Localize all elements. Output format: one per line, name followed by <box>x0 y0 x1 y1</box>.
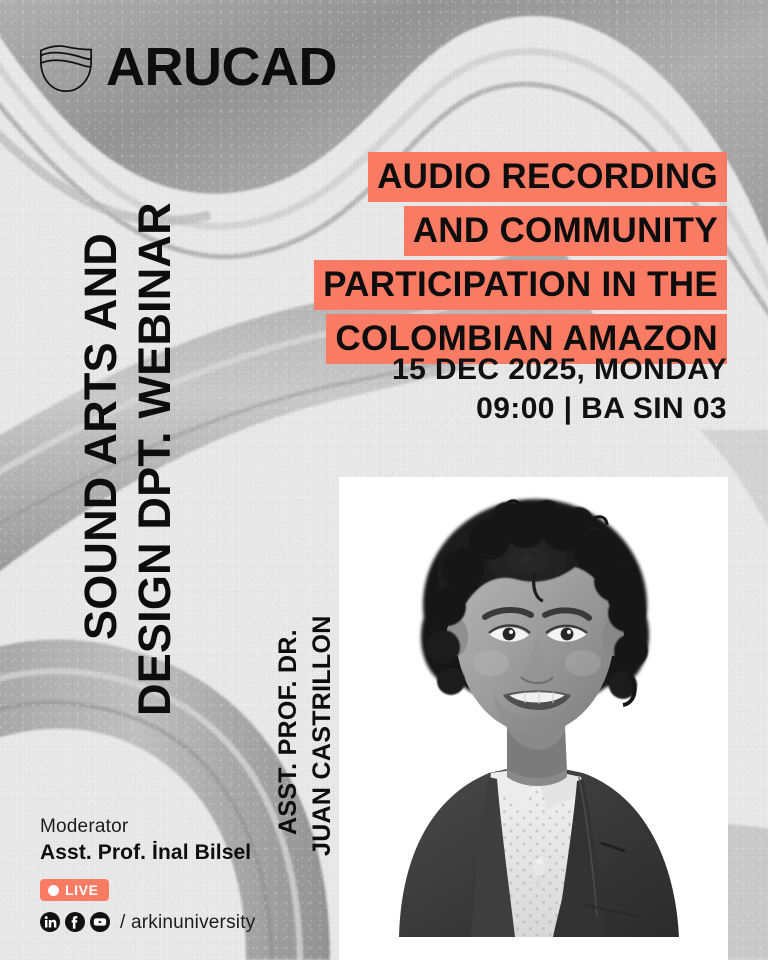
department-line-2: DESIGN DPT. WEBINAR <box>132 202 177 716</box>
speaker-title: ASST. PROF. DR. <box>276 629 301 835</box>
brand-logo: ARUCAD <box>36 38 337 96</box>
moderator-name: Asst. Prof. İnal Bilsel <box>40 840 255 866</box>
speaker-vertical-text: ASST. PROF. DR. JUAN CASTRILLON <box>255 560 355 860</box>
live-dot-icon <box>48 885 59 896</box>
headline-line-2: AND COMMUNITY <box>404 206 727 256</box>
arucad-bowl-mark-icon <box>36 38 96 96</box>
footer-block: Moderator Asst. Prof. İnal Bilsel LIVE <box>40 816 255 932</box>
webinar-poster: ARUCAD SOUND ARTS AND DESIGN DPT. WEBINA… <box>0 0 768 960</box>
department-vertical-text: SOUND ARTS AND DESIGN DPT. WEBINAR <box>0 0 180 780</box>
headline-line-1: AUDIO RECORDING <box>368 152 727 202</box>
headline-block: AUDIO RECORDING AND COMMUNITY PARTICIPAT… <box>314 152 727 364</box>
live-badge: LIVE <box>40 879 109 901</box>
youtube-icon[interactable] <box>90 912 110 932</box>
social-handle[interactable]: / arkinuniversity <box>120 913 255 932</box>
moderator-label: Moderator <box>40 816 255 838</box>
speaker-portrait <box>339 477 728 937</box>
event-datetime-block: 15 DEC 2025, MONDAY 09:00 | BA SIN 03 <box>392 350 727 428</box>
event-date: 15 DEC 2025, MONDAY <box>392 350 727 389</box>
linkedin-icon[interactable] <box>40 912 60 932</box>
social-row: / arkinuniversity <box>40 912 255 932</box>
event-time-venue: 09:00 | BA SIN 03 <box>392 389 727 428</box>
speaker-photo-panel <box>339 477 728 960</box>
facebook-icon[interactable] <box>65 912 85 932</box>
headline-line-3: PARTICIPATION IN THE <box>314 260 727 310</box>
live-label: LIVE <box>65 883 99 897</box>
brand-name: ARUCAD <box>106 40 337 94</box>
speaker-name: JUAN CASTRILLON <box>310 615 335 856</box>
department-line-1: SOUND ARTS AND <box>78 233 123 640</box>
